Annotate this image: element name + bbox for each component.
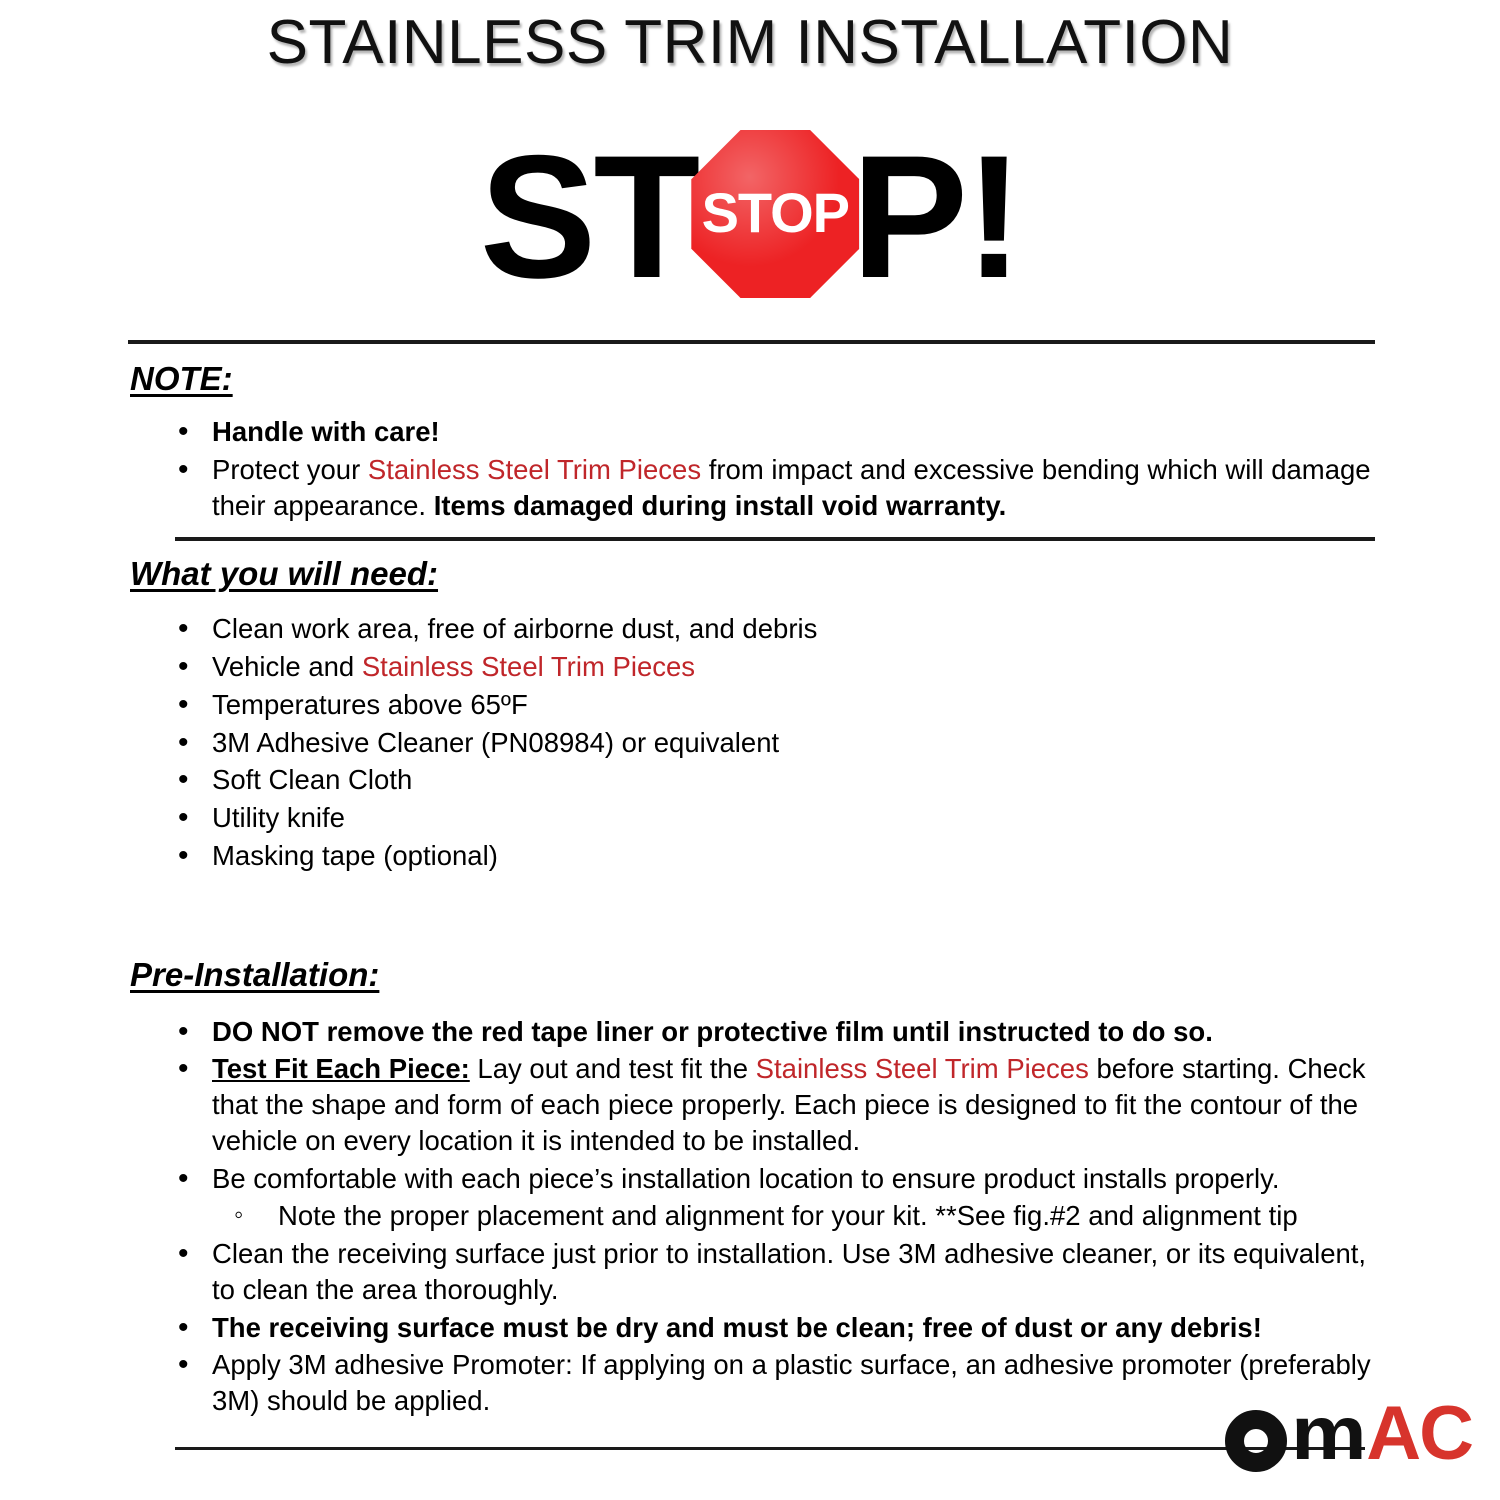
bullet-text-run: Masking tape (optional) xyxy=(212,840,498,871)
octagon-stop-label: STOP xyxy=(691,128,859,296)
note-bullet-list: Handle with care!Protect your Stainless … xyxy=(0,414,1500,523)
omac-logo-o-mark xyxy=(1225,1410,1287,1472)
bullet-text-run: Clean work area, free of airborne dust, … xyxy=(212,613,817,644)
bullet-text-run: Stainless Steel Trim Pieces xyxy=(756,1053,1089,1084)
note-section: NOTE: Handle with care!Protect your Stai… xyxy=(0,344,1500,541)
octagon-stop-sign-icon: STOP xyxy=(691,130,859,298)
list-item: The receiving surface must be dry and mu… xyxy=(0,1310,1500,1346)
list-item: Temperatures above 65ºF xyxy=(0,687,1500,723)
bullet-text-run: Handle with care! xyxy=(212,416,440,447)
list-item: Handle with care! xyxy=(0,414,1500,450)
list-item: 3M Adhesive Cleaner (PN08984) or equival… xyxy=(0,725,1500,761)
stop-graphic-right-letters: P! xyxy=(851,130,1020,305)
bullet-text-run: Stainless Steel Trim Pieces xyxy=(368,454,701,485)
needs-bullet-list: Clean work area, free of airborne dust, … xyxy=(0,611,1500,873)
sub-list-container: Note the proper placement and alignment … xyxy=(0,1198,1500,1234)
bullet-text-run: Clean the receiving surface just prior t… xyxy=(212,1238,1366,1305)
divider-bottom xyxy=(175,1447,1365,1450)
stop-sign-graphic: ST STOP P! xyxy=(0,122,1500,312)
bullet-text-run: The receiving surface must be dry and mu… xyxy=(212,1312,1262,1343)
document-body: NOTE: Handle with care!Protect your Stai… xyxy=(0,312,1500,1450)
omac-logo-m-letter: m xyxy=(1291,1396,1364,1472)
list-item: Utility knife xyxy=(0,800,1500,836)
page-title: STAINLESS TRIM INSTALLATION xyxy=(0,0,1500,74)
list-item: Be comfortable with each piece’s install… xyxy=(0,1161,1500,1197)
omac-logo-ac-letters: AC xyxy=(1366,1396,1472,1472)
list-item: Test Fit Each Piece: Lay out and test fi… xyxy=(0,1051,1500,1158)
list-item: Vehicle and Stainless Steel Trim Pieces xyxy=(0,649,1500,685)
bullet-text-run: Test Fit Each Piece: xyxy=(212,1053,470,1084)
needs-section: What you will need: Clean work area, fre… xyxy=(0,541,1500,873)
bullet-text-run: Stainless Steel Trim Pieces xyxy=(362,651,695,682)
list-item: DO NOT remove the red tape liner or prot… xyxy=(0,1014,1500,1050)
bullet-text-run: Temperatures above 65ºF xyxy=(212,689,528,720)
bullet-text-run: Be comfortable with each piece’s install… xyxy=(212,1163,1279,1194)
bullet-text-run: Items damaged during install void warran… xyxy=(434,490,1007,521)
bullet-text-run: Utility knife xyxy=(212,802,345,833)
list-item: Masking tape (optional) xyxy=(0,838,1500,874)
preinstall-heading: Pre-Installation: xyxy=(130,956,379,994)
sub-bullet-list: Note the proper placement and alignment … xyxy=(212,1198,1380,1234)
list-item: Clean work area, free of airborne dust, … xyxy=(0,611,1500,647)
stop-graphic-left-letters: ST xyxy=(480,130,698,305)
sub-list-item: Note the proper placement and alignment … xyxy=(212,1198,1380,1234)
needs-heading: What you will need: xyxy=(130,555,438,593)
bullet-text-run: 3M Adhesive Cleaner (PN08984) or equival… xyxy=(212,727,779,758)
bullet-text-run: DO NOT remove the red tape liner or prot… xyxy=(212,1016,1213,1047)
bullet-text-run: Soft Clean Cloth xyxy=(212,764,412,795)
list-item: Protect your Stainless Steel Trim Pieces… xyxy=(0,452,1500,524)
omac-brand-logo: m AC xyxy=(1225,1396,1472,1472)
bullet-text-run: Vehicle and xyxy=(212,651,362,682)
bullet-text-run: Apply 3M adhesive Promoter: If applying … xyxy=(212,1349,1371,1416)
preinstall-section: Pre-Installation: DO NOT remove the red … xyxy=(0,876,1500,1419)
list-item: Soft Clean Cloth xyxy=(0,762,1500,798)
list-item: Clean the receiving surface just prior t… xyxy=(0,1236,1500,1308)
bullet-text-run: Protect your xyxy=(212,454,368,485)
note-heading: NOTE: xyxy=(130,360,233,398)
preinstall-bullet-list: DO NOT remove the red tape liner or prot… xyxy=(0,1014,1500,1419)
bullet-text-run: Lay out and test fit the xyxy=(470,1053,756,1084)
